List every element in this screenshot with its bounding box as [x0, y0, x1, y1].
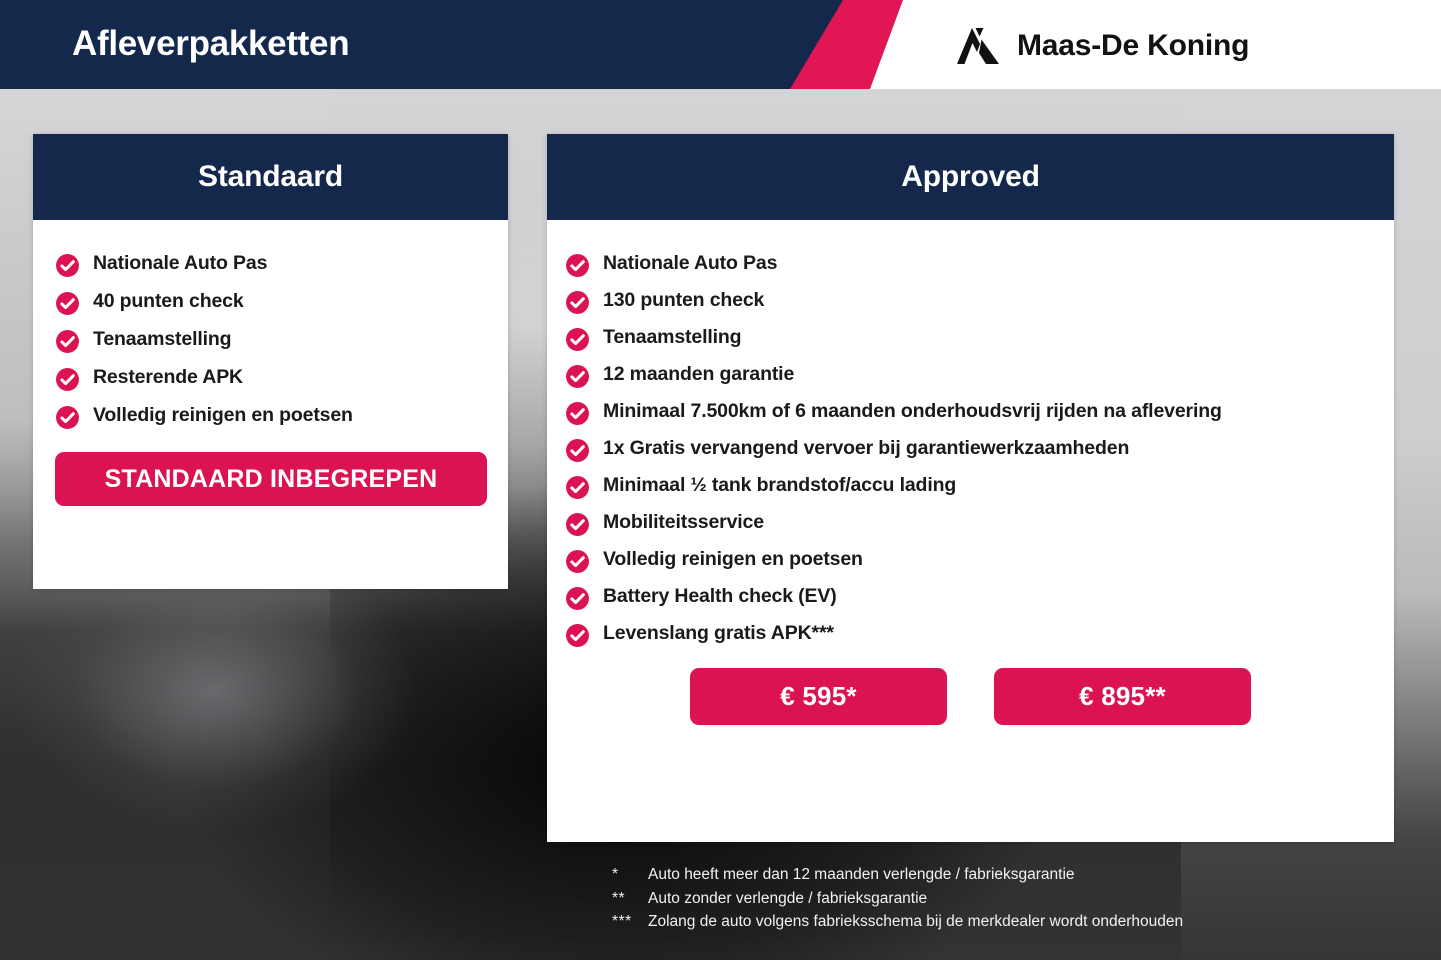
footnote-marker: *** — [612, 910, 648, 934]
check-circle-icon — [55, 253, 80, 278]
footnote-row: ***Zolang de auto volgens fabrieksschema… — [612, 910, 1183, 934]
feature-label: Resterende APK — [93, 364, 243, 392]
feature-label: Minimaal ½ tank brandstof/accu lading — [603, 472, 956, 500]
feature-item: Minimaal 7.500km of 6 maanden onderhouds… — [565, 398, 1376, 426]
feature-list-standaard: Nationale Auto Pas40 punten checkTenaams… — [55, 250, 486, 430]
check-circle-icon — [565, 512, 590, 537]
footnote-text: Auto heeft meer dan 12 maanden verlengde… — [648, 863, 1075, 887]
price-button-row: € 595*€ 895** — [565, 668, 1376, 725]
check-circle-icon — [565, 401, 590, 426]
brand-lockup: Maas-De Koning — [955, 26, 1249, 66]
check-circle-icon — [55, 291, 80, 316]
feature-item: Levenslang gratis APK*** — [565, 620, 1376, 648]
page-title: Afleverpakketten — [72, 24, 349, 64]
standaard-inbegrepen-button[interactable]: STANDAARD INBEGREPEN — [55, 452, 487, 506]
check-circle-icon — [565, 438, 590, 463]
check-circle-icon — [55, 367, 80, 392]
package-card-approved-body: Nationale Auto Pas130 punten checkTenaam… — [547, 220, 1394, 725]
feature-item: Volledig reinigen en poetsen — [565, 546, 1376, 574]
feature-item: 130 punten check — [565, 287, 1376, 315]
maas-de-koning-m-mark-icon — [955, 26, 1001, 66]
package-title-standaard: Standaard — [198, 160, 343, 194]
page-header: Afleverpakketten Maas-De Koning — [0, 0, 1441, 89]
check-circle-icon — [55, 405, 80, 430]
feature-item: 12 maanden garantie — [565, 361, 1376, 389]
feature-item: Battery Health check (EV) — [565, 583, 1376, 611]
check-circle-icon — [565, 364, 590, 389]
feature-label: 40 punten check — [93, 288, 244, 316]
check-circle-icon — [565, 586, 590, 611]
check-circle-icon — [565, 290, 590, 315]
check-circle-icon — [565, 549, 590, 574]
feature-item: Tenaamstelling — [55, 326, 486, 354]
price-button-1[interactable]: € 595* — [690, 668, 947, 725]
package-title-approved: Approved — [901, 160, 1039, 194]
feature-item: Nationale Auto Pas — [565, 250, 1376, 278]
feature-item: 1x Gratis vervangend vervoer bij garanti… — [565, 435, 1376, 463]
feature-label: Battery Health check (EV) — [603, 583, 837, 611]
footnote-marker: * — [612, 863, 648, 887]
poster-root: Afleverpakketten Maas-De Koning Standaar… — [0, 0, 1441, 960]
feature-item: Tenaamstelling — [565, 324, 1376, 352]
footnote-text: Zolang de auto volgens fabrieksschema bi… — [648, 910, 1183, 934]
feature-label: Nationale Auto Pas — [603, 250, 777, 278]
feature-label: 130 punten check — [603, 287, 764, 315]
feature-label: Minimaal 7.500km of 6 maanden onderhouds… — [603, 398, 1222, 426]
feature-label: Mobiliteitsservice — [603, 509, 764, 537]
feature-label: Volledig reinigen en poetsen — [603, 546, 863, 574]
feature-label: Tenaamstelling — [93, 326, 231, 354]
footnote-marker: ** — [612, 887, 648, 911]
check-circle-icon — [565, 475, 590, 500]
price-button-2[interactable]: € 895** — [994, 668, 1251, 725]
package-card-approved-header: Approved — [547, 134, 1394, 220]
package-card-approved: Approved Nationale Auto Pas130 punten ch… — [547, 134, 1394, 842]
feature-item: Mobiliteitsservice — [565, 509, 1376, 537]
check-circle-icon — [55, 329, 80, 354]
feature-label: 12 maanden garantie — [603, 361, 794, 389]
feature-item: Volledig reinigen en poetsen — [55, 402, 486, 430]
footnote-row: **Auto zonder verlengde / fabrieksgarant… — [612, 887, 1183, 911]
check-circle-icon — [565, 623, 590, 648]
check-circle-icon — [565, 327, 590, 352]
feature-label: Volledig reinigen en poetsen — [93, 402, 353, 430]
footnote-text: Auto zonder verlengde / fabrieksgarantie — [648, 887, 927, 911]
package-card-standaard-body: Nationale Auto Pas40 punten checkTenaams… — [33, 220, 508, 506]
check-circle-icon — [565, 253, 590, 278]
feature-label: Tenaamstelling — [603, 324, 741, 352]
package-card-standaard: Standaard Nationale Auto Pas40 punten ch… — [33, 134, 508, 589]
package-card-standaard-header: Standaard — [33, 134, 508, 220]
brand-name: Maas-De Koning — [1017, 29, 1249, 63]
feature-label: Nationale Auto Pas — [93, 250, 267, 278]
feature-label: Levenslang gratis APK*** — [603, 620, 834, 648]
feature-item: Minimaal ½ tank brandstof/accu lading — [565, 472, 1376, 500]
feature-item: Resterende APK — [55, 364, 486, 392]
feature-label: 1x Gratis vervangend vervoer bij garanti… — [603, 435, 1129, 463]
feature-list-approved: Nationale Auto Pas130 punten checkTenaam… — [565, 250, 1376, 648]
footnotes-block: *Auto heeft meer dan 12 maanden verlengd… — [612, 863, 1183, 934]
feature-item: 40 punten check — [55, 288, 486, 316]
footnote-row: *Auto heeft meer dan 12 maanden verlengd… — [612, 863, 1183, 887]
feature-item: Nationale Auto Pas — [55, 250, 486, 278]
